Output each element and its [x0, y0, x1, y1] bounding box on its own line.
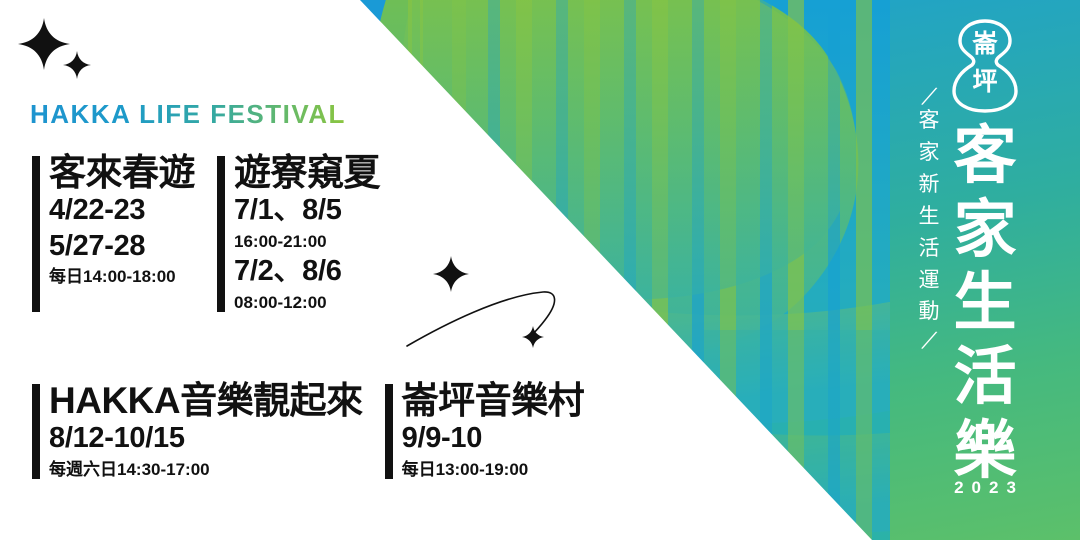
events-row-top: 客來春遊 4/22-23 5/27-28 每日14:00-18:00 遊寮窺夏 … — [32, 152, 402, 315]
year-label: 2023 — [946, 478, 1024, 498]
event-time: 16:00-21:00 — [234, 229, 380, 255]
event-title: 客來春遊 — [49, 152, 195, 193]
vertical-tagline: ╱ 客 家 新 生 活 運 動 ╱ — [912, 88, 946, 349]
events-row-bottom: HAKKA音樂靚起來 8/12-10/15 每週六日14:30-17:00 崙坪… — [32, 380, 606, 482]
event-card[interactable]: 崙坪音樂村 9/9-10 每日13:00-19:00 — [385, 380, 585, 482]
tagline-char: 家 — [919, 137, 940, 169]
event-title: 崙坪音樂村 — [402, 380, 585, 421]
event-date: 5/27-28 — [49, 229, 195, 264]
event-date: 7/2、8/6 — [234, 254, 380, 289]
vertical-main-title: 客 家 生 活 樂 — [942, 120, 1028, 489]
event-accent-bar — [32, 384, 40, 479]
hakka-life-festival-poster: 崙 坪 客 家 生 活 樂 2023 ╱ 客 家 新 生 活 運 動 ╱ — [0, 0, 1080, 540]
event-date: 7/1、8/5 — [234, 193, 380, 228]
logo-char-bottom: 坪 — [948, 70, 1022, 95]
tagline-char: 生 — [919, 201, 940, 233]
vtitle-char: 生 — [954, 267, 1017, 341]
event-time: 每日13:00-19:00 — [402, 457, 585, 483]
vtitle-char: 活 — [954, 341, 1017, 415]
tagline-char: 活 — [919, 233, 940, 265]
event-time: 08:00-12:00 — [234, 290, 380, 316]
event-date: 9/9-10 — [402, 421, 585, 456]
event-card[interactable]: 遊寮窺夏 7/1、8/5 16:00-21:00 7/2、8/6 08:00-1… — [217, 152, 380, 315]
tagline-char: 客 — [919, 105, 940, 137]
tagline-stroke-top-icon: ╱ — [922, 87, 936, 106]
event-accent-bar — [385, 384, 393, 479]
vtitle-char: 客 — [954, 120, 1017, 194]
tagline-char: 運 — [919, 265, 940, 297]
event-title: HAKKA音樂靚起來 — [49, 380, 363, 421]
event-card[interactable]: 客來春遊 4/22-23 5/27-28 每日14:00-18:00 — [32, 152, 195, 315]
event-time: 每日14:00-18:00 — [49, 264, 195, 290]
gourd-logo: 崙 坪 — [948, 18, 1022, 114]
tagline-char: 新 — [919, 169, 940, 201]
tagline-char: 動 — [919, 296, 940, 328]
logo-char-top: 崙 — [948, 32, 1022, 57]
vtitle-char: 家 — [954, 194, 1017, 268]
sparkle-small-icon — [62, 50, 92, 80]
event-accent-bar — [217, 156, 225, 312]
event-date: 4/22-23 — [49, 193, 195, 228]
tagline-stroke-bottom-icon: ╱ — [922, 331, 936, 350]
event-time: 每週六日14:30-17:00 — [49, 457, 363, 483]
event-card[interactable]: HAKKA音樂靚起來 8/12-10/15 每週六日14:30-17:00 — [32, 380, 363, 482]
event-title: 遊寮窺夏 — [234, 152, 380, 193]
event-date: 8/12-10/15 — [49, 421, 363, 456]
comet-curve-icon — [405, 280, 565, 350]
event-accent-bar — [32, 156, 40, 312]
festival-label: HAKKA LIFE FESTIVAL — [30, 99, 346, 130]
